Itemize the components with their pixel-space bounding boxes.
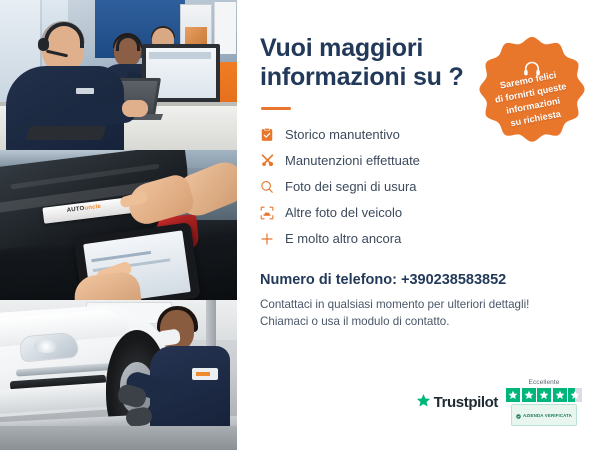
trustpilot-name: Trustpilot [434,394,498,411]
verified-label: AZIENDA VERIFICATA [523,413,572,418]
workshop-lift-photo [0,300,237,450]
star-filled [506,388,520,402]
list-item-label: Manutenzioni effettuate [285,153,420,168]
list-item-label: Altre foto del veicolo [285,205,402,220]
contact-description-line-1: Contattaci in qualsiasi momento per ulte… [260,296,578,314]
headline: Vuoi maggiori informazioni su ? [260,34,490,93]
star-filled [553,388,567,402]
call-center-photo [0,0,237,150]
tools-wrench-icon [260,153,285,168]
plus-icon [260,232,285,246]
list-item: E molto altro ancora [260,226,578,252]
promo-starburst-badge: Saremo felici di fornirti queste informa… [474,34,590,150]
star-half [568,388,582,402]
clipboard-check-icon [260,128,285,142]
magnifier-icon [260,180,285,194]
contact-description-line-2: Chiamaci o usa il modulo di contatto. [260,313,578,331]
trustpilot-star-icon [416,393,431,413]
list-item: Altre foto del veicolo [260,200,578,226]
rating-label: Eccellente [529,379,560,386]
contact-description: Contattaci in qualsiasi momento per ulte… [260,296,578,332]
photo-column: AUTOuncle [0,0,237,450]
vehicle-inspection-photo: AUTOuncle [0,150,237,300]
star-filled [537,388,551,402]
content-panel: Vuoi maggiori informazioni su ? Storico … [237,0,600,450]
scan-car-icon [260,206,285,220]
accent-divider [261,107,291,110]
list-item-label: E molto altro ancora [285,231,401,246]
star-rating [506,388,582,402]
trustpilot-rating: Eccellente [506,379,582,426]
list-item: Foto dei segni di usura [260,174,578,200]
trustpilot-logo: Trustpilot [416,393,498,413]
contact-info-banner: AUTOuncle Vuoi maggiori informazioni su … [0,0,600,450]
verified-badge: AZIENDA VERIFICATA [511,404,577,426]
list-item-label: Foto dei segni di usura [285,179,417,194]
trustpilot-widget[interactable]: Trustpilot Eccellente [416,379,582,426]
phone-number-line[interactable]: Numero di telefono: +390238583852 [260,272,578,288]
list-item: Manutenzioni effettuate [260,148,578,174]
star-filled [522,388,536,402]
verified-check-icon [516,406,521,424]
list-item-label: Storico manutentivo [285,127,400,142]
